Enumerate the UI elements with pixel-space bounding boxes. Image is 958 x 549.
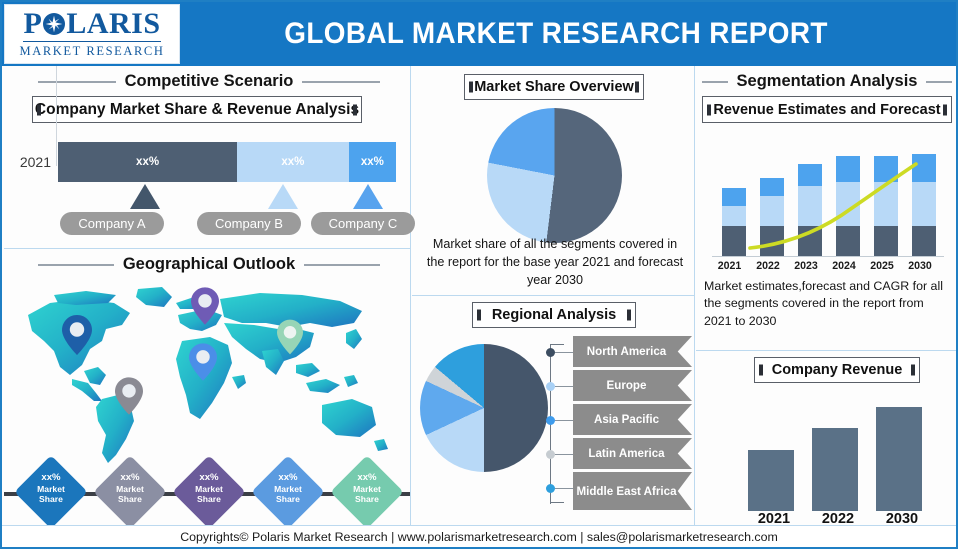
segmentation-heading-text: Segmentation Analysis <box>737 72 918 91</box>
pin-europe-north[interactable] <box>191 287 219 330</box>
badge-pct: xx% <box>120 472 139 483</box>
polaris-logo[interactable]: PLARIS MARKET RESEARCH <box>4 4 180 64</box>
revenue-subtitle: Company Revenue <box>754 357 920 383</box>
heading-rule-right <box>304 264 380 266</box>
marker-triangle-company-b <box>268 184 298 209</box>
pin-middle-east[interactable] <box>189 343 217 386</box>
region-item-europe[interactable]: Europe <box>544 370 692 402</box>
divider-vertical-left <box>410 66 411 529</box>
badge-line2: Share <box>355 494 379 504</box>
page-header: PLARIS MARKET RESEARCH GLOBAL MARKET RES… <box>2 2 958 66</box>
tick-2025: 2025 <box>863 260 901 272</box>
revenue-bar-2030[interactable] <box>876 407 922 511</box>
badge-line1: Market <box>353 484 381 494</box>
logo-tagline: MARKET RESEARCH <box>20 44 165 59</box>
badge-pct: xx% <box>199 472 218 483</box>
tick-2030: 2030 <box>901 260 939 272</box>
logo-letters-laris: LARIS <box>66 9 160 39</box>
marker-triangle-company-a <box>130 184 160 209</box>
region-connector <box>555 420 573 421</box>
competitive-heading-text: Competitive Scenario <box>125 72 294 91</box>
region-dot <box>546 382 555 391</box>
segmentation-tick-labels: 2021 2022 2023 2024 2025 2030 <box>710 260 946 272</box>
company-pill-a[interactable]: Company A <box>60 212 164 235</box>
heading-rule-right <box>302 81 380 83</box>
region-connector <box>555 386 573 387</box>
company-pill-b[interactable]: Company B <box>197 212 301 235</box>
heading-rule-left <box>702 81 728 83</box>
competitive-stacked-bar: xx% xx% xx% <box>58 142 396 182</box>
bar-segment-label: xx% <box>136 156 159 168</box>
competitive-subtitle: Company Market Share & Revenue Analysis <box>32 96 362 123</box>
revenue-bar-2021[interactable] <box>748 450 794 511</box>
tick-2021: 2021 <box>710 260 749 272</box>
region-connector <box>555 454 573 455</box>
panel-competitive-scenario: Competitive Scenario Company Market Shar… <box>4 66 410 248</box>
region-connector <box>555 352 573 353</box>
heading-rule-left <box>38 264 114 266</box>
heading-rule-left <box>38 81 116 83</box>
competitive-bar-row: 2021 xx% xx% xx% <box>12 138 404 186</box>
bar-segment-company-a[interactable]: xx% <box>58 142 237 182</box>
region-ribbon: Latin America <box>573 438 692 469</box>
competitive-year-label: 2021 <box>12 154 58 170</box>
marker-triangle-company-c <box>353 184 383 209</box>
badge-line2: Share <box>197 494 221 504</box>
divider-vertical-right <box>694 66 695 529</box>
segmentation-axis <box>712 256 944 257</box>
region-dot <box>546 416 555 425</box>
badge-line2: Share <box>276 494 300 504</box>
region-item-middle-east-africa[interactable]: Middle East Africa <box>544 472 692 504</box>
panel-market-share-overview: Market Share Overview Market share of al… <box>412 66 694 294</box>
world-map <box>10 279 404 469</box>
region-dot <box>546 450 555 459</box>
market-share-subtitle: Market Share Overview <box>464 74 644 100</box>
region-item-asia-pacific[interactable]: Asia Pacific <box>544 404 692 436</box>
pin-east-asia[interactable] <box>277 319 303 360</box>
bar-segment-company-b[interactable]: xx% <box>237 142 349 182</box>
badge-line1: Market <box>274 484 302 494</box>
competitive-markers <box>56 184 394 212</box>
footer-text: Copyrights© Polaris Market Research | ww… <box>180 530 778 544</box>
market-share-caption: Market share of all the segments covered… <box>425 236 685 290</box>
badge-pct: xx% <box>278 472 297 483</box>
bar-segment-label: xx% <box>361 156 384 168</box>
panel-company-revenue: Company Revenue 2021 2022 2030 <box>696 351 958 529</box>
tick-2022: 2022 <box>749 260 787 272</box>
logo-letter-p: P <box>23 9 42 39</box>
revenue-bar-chart[interactable] <box>748 393 928 511</box>
market-share-pie-chart[interactable] <box>487 108 622 243</box>
pin-north-america[interactable] <box>62 315 92 360</box>
logo-divider <box>23 41 161 42</box>
page-footer: Copyrights© Polaris Market Research | ww… <box>2 525 956 547</box>
badge-line1: Market <box>37 484 65 494</box>
competitive-company-labels: Company A Company B Company C <box>56 212 404 238</box>
badge-line2: Share <box>118 494 142 504</box>
regional-pie-chart[interactable] <box>420 344 548 472</box>
region-ribbon: North America <box>573 336 692 367</box>
tick-2024: 2024 <box>825 260 863 272</box>
bar-segment-company-c[interactable]: xx% <box>349 142 396 182</box>
region-ribbon: Middle East Africa <box>573 472 692 510</box>
region-dot <box>546 348 555 357</box>
geographical-heading: Geographical Outlook <box>24 255 394 274</box>
badge-line2: Share <box>39 494 63 504</box>
bar-segment-label: xx% <box>281 156 304 168</box>
logo-wordmark: PLARIS <box>23 9 160 39</box>
region-connector <box>555 488 573 489</box>
region-ribbon: Europe <box>573 370 692 401</box>
region-item-latin-america[interactable]: Latin America <box>544 438 692 470</box>
heading-rule-right <box>926 81 952 83</box>
company-pill-c[interactable]: Company C <box>311 212 415 235</box>
panel-segmentation-analysis: Segmentation Analysis Revenue Estimates … <box>696 66 958 349</box>
cagr-trend-line <box>718 132 944 256</box>
pin-south-america[interactable] <box>115 377 143 420</box>
competitive-heading: Competitive Scenario <box>24 72 394 91</box>
badge-pct: xx% <box>41 472 60 483</box>
region-item-north-america[interactable]: North America <box>544 336 692 368</box>
page-title: GLOBAL MARKET RESEARCH REPORT <box>207 17 932 51</box>
segmentation-bar-chart[interactable] <box>718 132 944 256</box>
badge-line1: Market <box>195 484 223 494</box>
panel-geographical-outlook: Geographical Outlook <box>4 249 410 529</box>
badge-line1: Market <box>116 484 144 494</box>
revenue-bar-2022[interactable] <box>812 428 858 511</box>
market-share-badges: xx%MarketShare xx%MarketShare xx%MarketS… <box>4 461 410 523</box>
segmentation-caption: Market estimates,forecast and CAGR for a… <box>704 278 954 330</box>
geographical-heading-text: Geographical Outlook <box>123 255 295 274</box>
region-dot <box>546 484 555 493</box>
regional-legend: North America Europe Asia Pacific Latin … <box>544 336 692 512</box>
segmentation-heading: Segmentation Analysis <box>702 72 952 91</box>
compass-star-icon <box>43 13 65 35</box>
segmentation-subtitle: Revenue Estimates and Forecast <box>702 96 952 123</box>
badge-pct: xx% <box>357 472 376 483</box>
panel-regional-analysis: Regional Analysis North America Europe A… <box>412 296 694 529</box>
regional-subtitle: Regional Analysis <box>472 302 636 328</box>
region-ribbon: Asia Pacific <box>573 404 692 435</box>
tick-2023: 2023 <box>787 260 825 272</box>
report-poster: PLARIS MARKET RESEARCH GLOBAL MARKET RES… <box>0 0 958 549</box>
